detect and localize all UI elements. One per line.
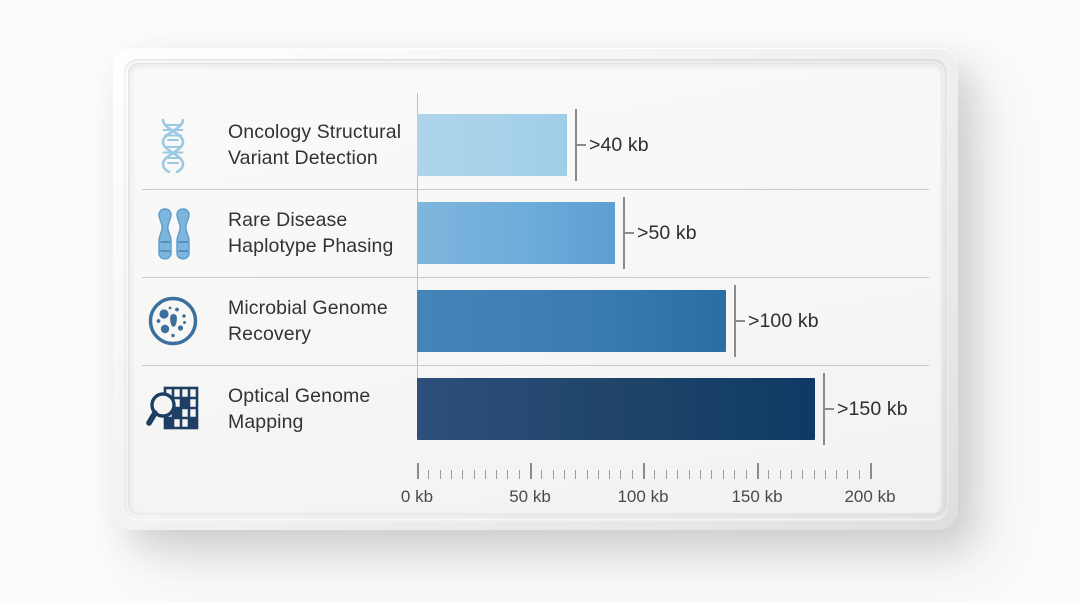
- axis-tick-minor: [462, 470, 463, 479]
- axis-tick-label: 50 kb: [509, 487, 551, 507]
- chart-row-label-line1: Optical Genome: [228, 383, 408, 409]
- chart-bar-value: >50 kb: [637, 222, 697, 245]
- chart-bar-connector: [625, 232, 634, 234]
- row-divider: [142, 277, 929, 278]
- chart-row-label-line1: Oncology Structural: [228, 119, 408, 145]
- chart-row: Microbial Genome Recovery >100 kb: [128, 277, 942, 365]
- dna-helix-icon: [145, 114, 201, 176]
- axis-tick-minor: [780, 470, 781, 479]
- axis-tick-minor: [689, 470, 690, 479]
- chart-row-label: Microbial Genome Recovery: [228, 295, 408, 347]
- chart-bar-connector: [577, 144, 586, 146]
- axis-tick-major: [757, 463, 759, 479]
- x-axis: 0 kb50 kb100 kb150 kb200 kb: [128, 447, 942, 507]
- row-divider: [142, 189, 929, 190]
- chromosome-pair-icon: [145, 202, 201, 264]
- axis-tick-minor: [677, 470, 678, 479]
- chart-bar[interactable]: [417, 114, 567, 176]
- axis-tick-minor: [428, 470, 429, 479]
- chart-row-label-line1: Rare Disease: [228, 207, 408, 233]
- axis-tick-minor: [541, 470, 542, 479]
- chart-bar-value: >100 kb: [748, 310, 819, 333]
- chart-row: Rare Disease Haplotype Phasing >50 kb: [128, 189, 942, 277]
- axis-tick-minor: [768, 470, 769, 479]
- axis-tick-minor: [451, 470, 452, 479]
- chart-bar-group: >40 kb: [417, 114, 649, 176]
- chart-bar-group: >50 kb: [417, 202, 697, 264]
- axis-tick-minor: [791, 470, 792, 479]
- axis-tick-minor: [654, 470, 655, 479]
- chart-bar[interactable]: [417, 378, 815, 440]
- axis-tick-minor: [746, 470, 747, 479]
- axis-tick-minor: [847, 470, 848, 479]
- chart-row: Oncology Structural Variant Detection >4…: [128, 101, 942, 189]
- chart-bar-connector: [825, 408, 834, 410]
- chart-bar-value: >40 kb: [589, 134, 649, 157]
- chart-row-label: Optical Genome Mapping: [228, 383, 408, 435]
- axis-tick-minor: [666, 470, 667, 479]
- chart-row-label-line2: Mapping: [228, 409, 408, 435]
- chart-bar-connector: [736, 320, 745, 322]
- chart-row-label: Oncology Structural Variant Detection: [228, 119, 408, 171]
- axis-tick-minor: [485, 470, 486, 479]
- axis-tick-minor: [836, 470, 837, 479]
- axis-tick-minor: [700, 470, 701, 479]
- horizontal-bar-chart: Oncology Structural Variant Detection >4…: [128, 63, 942, 514]
- axis-tick-minor: [734, 470, 735, 479]
- axis-tick-minor: [859, 470, 860, 479]
- chart-row-label-line2: Variant Detection: [228, 145, 408, 171]
- axis-tick-minor: [519, 470, 520, 479]
- axis-tick-minor: [825, 470, 826, 479]
- chart-bar[interactable]: [417, 290, 726, 352]
- axis-tick-minor: [496, 470, 497, 479]
- axis-tick-minor: [507, 470, 508, 479]
- axis-tick-minor: [723, 470, 724, 479]
- axis-tick-minor: [620, 470, 621, 479]
- axis-tick-minor: [553, 470, 554, 479]
- axis-tick-minor: [598, 470, 599, 479]
- axis-tick-major: [530, 463, 532, 479]
- axis-tick-minor: [609, 470, 610, 479]
- chart-row-label-line2: Recovery: [228, 321, 408, 347]
- chart-row-label: Rare Disease Haplotype Phasing: [228, 207, 408, 259]
- chart-bar-group: >100 kb: [417, 290, 819, 352]
- petri-dish-icon: [145, 290, 201, 352]
- axis-tick-minor: [474, 470, 475, 479]
- axis-tick-major: [870, 463, 872, 479]
- axis-tick-minor: [632, 470, 633, 479]
- axis-tick-major: [417, 463, 419, 479]
- axis-tick-label: 150 kb: [731, 487, 782, 507]
- chart-bar-value: >150 kb: [837, 398, 908, 421]
- device-screen: Oncology Structural Variant Detection >4…: [128, 63, 942, 514]
- row-divider: [142, 365, 929, 366]
- axis-tick-label: 100 kb: [617, 487, 668, 507]
- axis-tick-major: [643, 463, 645, 479]
- chart-bar-group: >150 kb: [417, 378, 908, 440]
- axis-tick-minor: [814, 470, 815, 479]
- chart-row-label-line1: Microbial Genome: [228, 295, 408, 321]
- optical-mapping-icon: [145, 378, 201, 440]
- axis-tick-minor: [711, 470, 712, 479]
- axis-tick-minor: [587, 470, 588, 479]
- axis-tick-minor: [802, 470, 803, 479]
- axis-tick-label: 200 kb: [844, 487, 895, 507]
- axis-tick-minor: [575, 470, 576, 479]
- axis-tick-label: 0 kb: [401, 487, 433, 507]
- device-frame: Oncology Structural Variant Detection >4…: [113, 48, 958, 530]
- chart-row: Optical Genome Mapping >150 kb: [128, 365, 942, 453]
- chart-row-label-line2: Haplotype Phasing: [228, 233, 408, 259]
- axis-tick-minor: [564, 470, 565, 479]
- axis-tick-minor: [440, 470, 441, 479]
- chart-bar[interactable]: [417, 202, 615, 264]
